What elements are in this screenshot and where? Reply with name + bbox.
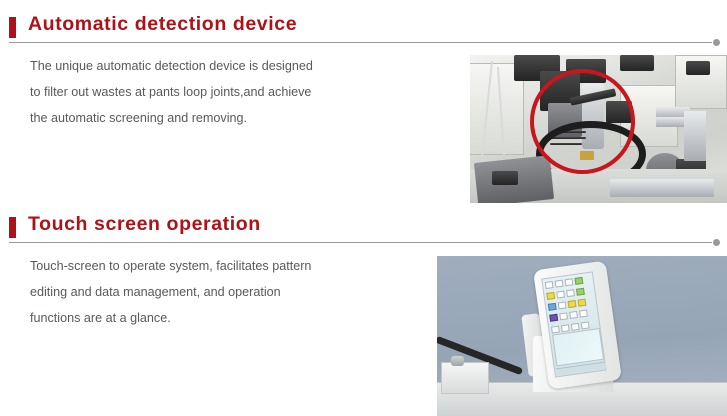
page-title-touchscreen: Touch screen operation xyxy=(28,213,261,236)
screen-key[interactable] xyxy=(569,311,578,319)
machine-part xyxy=(620,55,654,71)
pattern-edit-canvas[interactable] xyxy=(552,328,604,366)
screen-key[interactable] xyxy=(577,299,586,307)
slide-page: Automatic detection device The unique au… xyxy=(0,0,727,416)
machine-part xyxy=(686,61,710,75)
machine-part xyxy=(684,111,706,161)
page-title-detection: Automatic detection device xyxy=(28,13,297,36)
screen-key[interactable] xyxy=(558,301,567,309)
accent-bar-icon xyxy=(9,17,16,38)
screen-key[interactable] xyxy=(549,314,558,322)
screen-key[interactable] xyxy=(576,288,585,296)
screen-key[interactable] xyxy=(561,324,570,332)
image-detection-device xyxy=(470,55,727,203)
screen-key[interactable] xyxy=(551,326,560,334)
screen-key[interactable] xyxy=(545,281,554,289)
body-line: to filter out wastes at pants loop joint… xyxy=(30,79,365,105)
machine-part xyxy=(610,179,714,197)
screen-key[interactable] xyxy=(571,323,580,331)
divider-line xyxy=(9,42,712,43)
machine-knob xyxy=(451,356,464,366)
touch-screen-display[interactable] xyxy=(541,271,606,377)
screen-key[interactable] xyxy=(574,277,583,285)
screen-key[interactable] xyxy=(568,300,577,308)
screen-key[interactable] xyxy=(581,321,590,329)
screen-key[interactable] xyxy=(566,289,575,297)
dot-icon xyxy=(713,39,720,46)
divider-line xyxy=(9,242,712,243)
image-touch-screen-panel xyxy=(437,256,727,416)
body-line: functions are at a glance. xyxy=(30,305,365,331)
divider-detection xyxy=(9,39,720,48)
screen-key[interactable] xyxy=(579,310,588,318)
body-line: editing and data management, and operati… xyxy=(30,279,365,305)
body-line: Touch-screen to operate system, facilita… xyxy=(30,253,365,279)
dot-icon xyxy=(713,239,720,246)
machine-part xyxy=(492,171,518,185)
screen-key[interactable] xyxy=(546,292,555,300)
machine-box xyxy=(441,362,489,394)
screen-key[interactable] xyxy=(548,303,557,311)
body-line: The unique automatic detection device is… xyxy=(30,53,365,79)
body-line: the automatic screening and removing. xyxy=(30,105,365,131)
highlight-circle-icon xyxy=(530,69,635,174)
section-automatic-detection-device: Automatic detection device The unique au… xyxy=(0,0,727,208)
divider-touchscreen xyxy=(9,239,720,248)
accent-bar-icon xyxy=(9,217,16,238)
screen-key[interactable] xyxy=(559,312,568,320)
screen-key[interactable] xyxy=(565,278,574,286)
screen-key[interactable] xyxy=(556,291,565,299)
body-copy-detection: The unique automatic detection device is… xyxy=(30,53,365,131)
screen-key[interactable] xyxy=(555,280,564,288)
body-copy-touchscreen: Touch-screen to operate system, facilita… xyxy=(30,253,365,331)
